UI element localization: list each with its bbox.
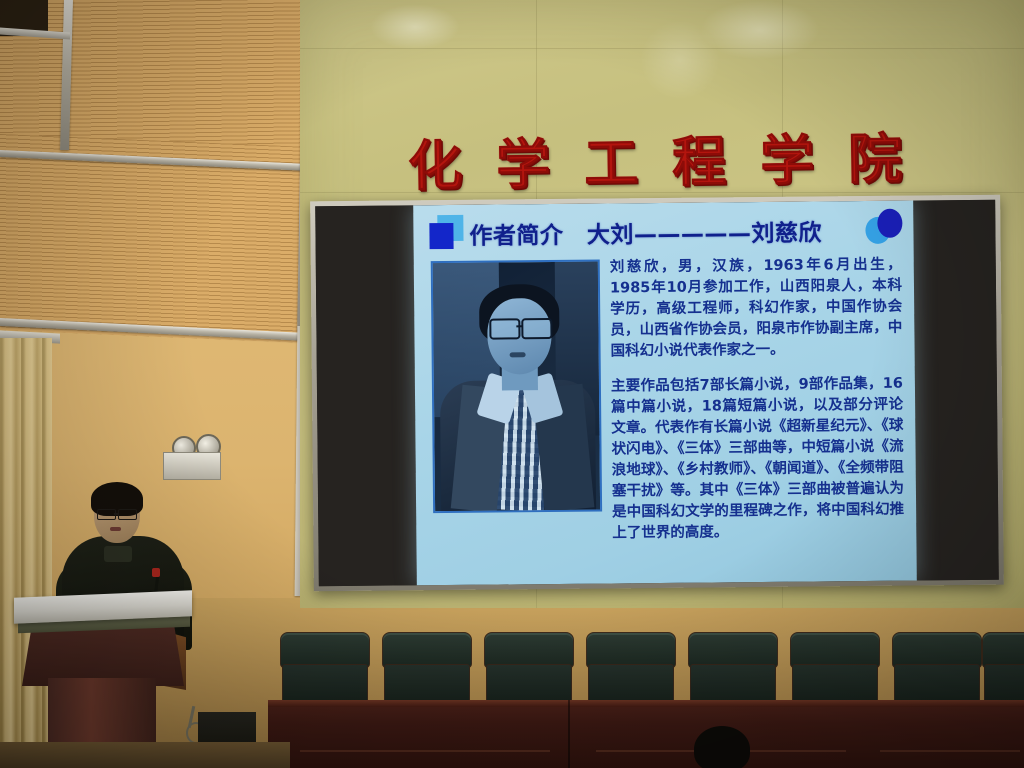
chair <box>582 632 678 704</box>
decor-circle-dark <box>877 209 902 238</box>
venue-sign: 化学工程学院 <box>321 103 992 210</box>
chair <box>480 632 576 704</box>
screen-pillarbox-left <box>315 205 417 586</box>
chair-backrest <box>586 632 676 668</box>
presenter-eyeglass-right <box>118 509 137 520</box>
microphone-head <box>152 568 160 577</box>
chair-backrest <box>688 632 778 668</box>
chair <box>888 632 984 704</box>
presenter-eyeglass-left <box>97 509 116 520</box>
chair-lower-back <box>984 664 1024 704</box>
stage-table <box>268 700 1024 768</box>
ceiling-light-glare <box>640 20 720 100</box>
chair <box>378 632 474 704</box>
projection-screen-surface: 作者简介 大刘—————刘慈欣 <box>315 200 999 587</box>
portrait-eyeglass-bridge <box>516 325 522 327</box>
chair-backrest <box>982 632 1024 668</box>
presenter-eyeglass-bridge <box>114 513 118 515</box>
title-bullet-dark-square <box>429 223 453 249</box>
chair-lower-back <box>690 664 776 704</box>
chair <box>276 632 372 704</box>
slide-paragraph-2: 主要作品包括7部长篇小说，9部作品集，16篇中篇小说，18篇短篇小说，以及部分评… <box>611 374 905 545</box>
chair <box>786 632 882 704</box>
table-groove <box>880 750 1020 752</box>
ceiling-light-glare <box>370 4 460 50</box>
chair-lower-back <box>894 664 980 704</box>
chair-lower-back <box>486 664 572 704</box>
chair-lower-back <box>588 664 674 704</box>
screen-pillarbox-right <box>913 200 999 581</box>
stage-table-edge <box>268 700 1024 707</box>
table-panel-seam <box>568 700 570 768</box>
floor-strip <box>0 742 290 768</box>
stage-curtain <box>0 338 52 768</box>
chair-lower-back <box>792 664 878 704</box>
audience-head <box>694 726 750 768</box>
chair-lower-back <box>282 664 368 704</box>
presentation-slide: 作者简介 大刘—————刘慈欣 <box>413 201 917 586</box>
author-portrait-photo <box>431 260 602 514</box>
presenter-collar <box>104 546 132 562</box>
lecture-hall-photo: 化学工程学院 作者简介 大刘—————刘慈欣 <box>0 0 1024 768</box>
slide-title: 作者简介 大刘—————刘慈欣 <box>469 213 822 250</box>
chair-backrest <box>892 632 982 668</box>
chair-backrest <box>484 632 574 668</box>
table-groove <box>300 750 550 752</box>
podium-body <box>22 626 184 686</box>
projection-screen-frame: 作者简介 大刘—————刘慈欣 <box>310 195 1004 592</box>
portrait-eyeglass-right <box>521 318 552 339</box>
venue-sign-text: 化学工程学院 <box>407 114 928 201</box>
chair-backrest <box>790 632 880 668</box>
emergency-light-body <box>163 452 221 480</box>
chair <box>684 632 780 704</box>
presenter-mouth <box>110 527 121 531</box>
chair-backrest <box>280 632 370 668</box>
chair-lower-back <box>384 664 470 704</box>
chair <box>978 632 1024 704</box>
portrait-eyeglass-left <box>489 318 520 339</box>
chair-backrest <box>382 632 472 668</box>
slide-body-text: 刘慈欣，男，汉族，1963年6月出生，1985年10月参加工作，山西阳泉人，本科… <box>610 255 905 559</box>
portrait-mouth <box>510 352 526 357</box>
slide-paragraph-1: 刘慈欣，男，汉族，1963年6月出生，1985年10月参加工作，山西阳泉人，本科… <box>610 255 903 363</box>
